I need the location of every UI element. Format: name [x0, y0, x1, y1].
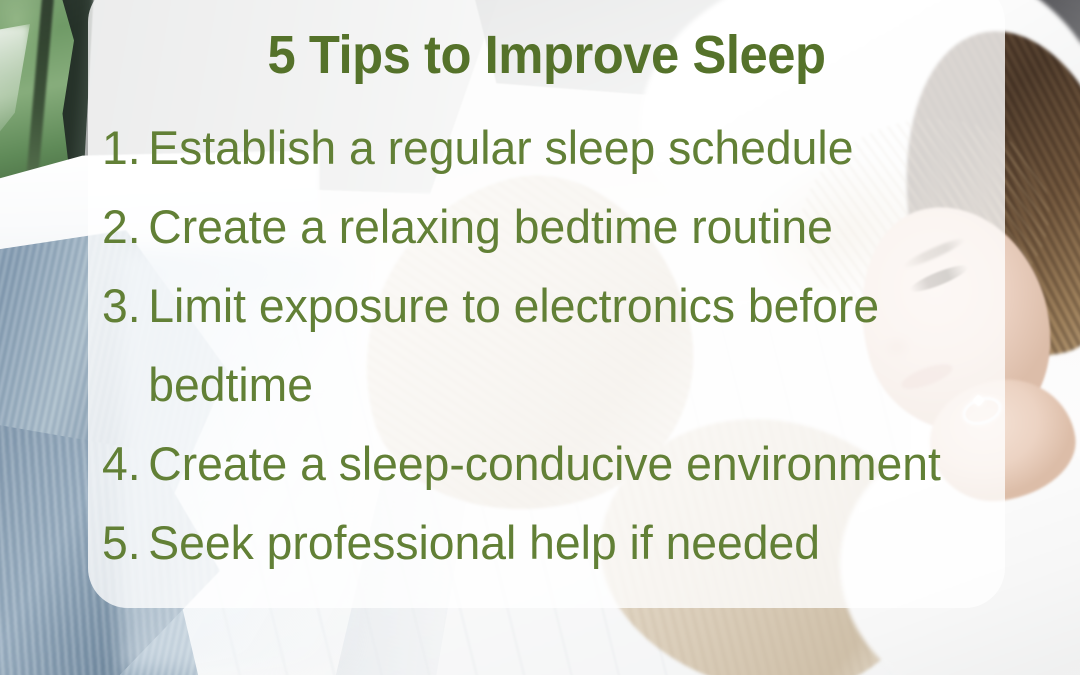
page-title: 5 Tips to Improve Sleep: [116, 26, 978, 84]
list-item: 3. Limit exposure to electronics before …: [102, 266, 979, 424]
list-item: 1. Establish a regular sleep schedule: [102, 108, 979, 187]
list-item-number: 4.: [102, 424, 145, 503]
list-item-text: Limit exposure to electronics before bed…: [148, 266, 978, 424]
list-item: 2. Create a relaxing bedtime routine: [102, 187, 979, 266]
list-item: 4. Create a sleep-conducive environment: [102, 424, 979, 503]
list-item-text: Create a relaxing bedtime routine: [148, 187, 978, 266]
tips-list: 1. Establish a regular sleep schedule 2.…: [102, 108, 979, 582]
list-item-text: Create a sleep-conducive environment: [148, 424, 978, 503]
list-item-number: 2.: [102, 187, 145, 266]
list-item: 5. Seek professional help if needed: [102, 503, 979, 582]
slide-canvas: 5 Tips to Improve Sleep 1. Establish a r…: [0, 0, 1080, 675]
list-item-number: 1.: [102, 108, 145, 187]
list-item-number: 3.: [102, 266, 145, 345]
list-item-number: 5.: [102, 503, 145, 582]
list-item-text: Establish a regular sleep schedule: [148, 108, 978, 187]
list-item-text: Seek professional help if needed: [148, 503, 978, 582]
content-area: 5 Tips to Improve Sleep 1. Establish a r…: [88, 0, 1005, 608]
